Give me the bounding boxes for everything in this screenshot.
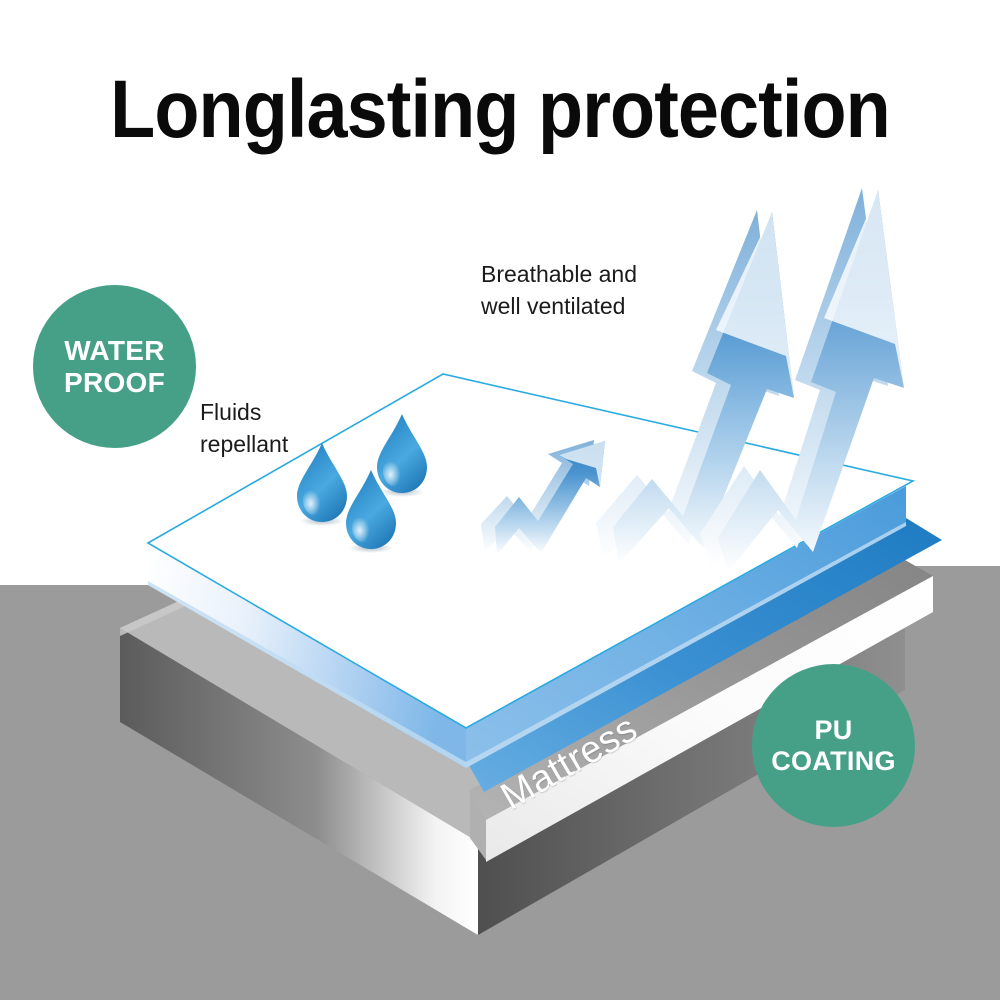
badge-pu-coating: PU COATING <box>752 664 915 827</box>
callout-fluids-line1: Fluids <box>200 396 288 428</box>
badge-pu-line2: COATING <box>771 746 896 776</box>
badge-pu-line1: PU <box>814 715 852 745</box>
callout-breathable-line1: Breathable and <box>481 258 637 290</box>
callout-breathable-ventilated: Breathable and well ventilated <box>481 258 637 322</box>
callout-breathable-line2: well ventilated <box>481 290 637 322</box>
badge-waterproof: WATER PROOF <box>33 285 196 448</box>
page-title: Longlasting protection <box>50 60 950 160</box>
badge-waterproof-line1: WATER <box>64 335 165 366</box>
callout-fluids-repellant: Fluids repellant <box>200 396 288 460</box>
infographic-canvas: Longlasting protection Fluids repellant … <box>0 0 1000 1000</box>
badge-waterproof-line2: PROOF <box>64 367 165 398</box>
callout-fluids-line2: repellant <box>200 428 288 460</box>
